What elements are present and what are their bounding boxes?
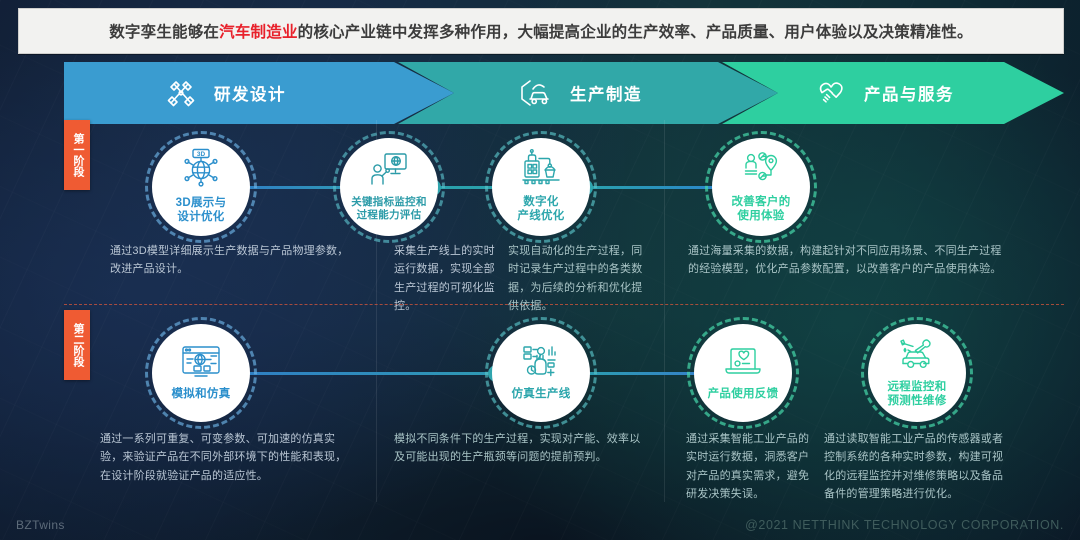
- desc-simulated-line: 模拟不同条件下的生产过程，实现对产能、效率以及可能出现的生产瓶颈等问题的提前预判…: [394, 430, 642, 467]
- desc-simulation: 通过一系列可重复、可变参数、可加速的仿真实验，来验证产品在不同外部环境下的性能和…: [100, 430, 352, 485]
- phase-arrow-rd[interactable]: 研发设计: [64, 62, 454, 124]
- desc-remote-monitoring: 通过读取智能工业产品的传感器或者控制系统的各种实时参数，构建可视化的远程监控并对…: [824, 430, 1004, 504]
- node-customer-experience[interactable]: 改善客户的使用体验: [712, 138, 810, 236]
- phase-arrow-manufacturing[interactable]: 生产制造: [398, 62, 778, 124]
- stage-tag-one-label: 第一阶段: [71, 133, 83, 177]
- node-ring: [333, 131, 445, 243]
- node-ring: [485, 317, 597, 429]
- headline-text: 数字孪生能够在汽车制造业的核心产业链中发挥多种作用，大幅提高企业的生产效率、产品…: [109, 20, 973, 42]
- headline-banner: 数字孪生能够在汽车制造业的核心产业链中发挥多种作用，大幅提高企业的生产效率、产品…: [18, 8, 1064, 54]
- node-ring: [145, 317, 257, 429]
- car-manufacturing-icon: [518, 77, 554, 109]
- drafting-compass-icon: [164, 76, 198, 110]
- node-ring: [485, 131, 597, 243]
- headline-prefix: 数字孪生能够在: [109, 24, 219, 41]
- node-simulation[interactable]: 模拟和仿真: [152, 324, 250, 422]
- desc-digital-line: 实现自动化的生产过程，同时记录生产过程中的各类数据，为后续的分析和优化提供依据。: [508, 242, 648, 316]
- node-kpi-monitoring[interactable]: 关键指标监控和过程能力评估: [340, 138, 438, 236]
- node-ring: [705, 131, 817, 243]
- stage-tag-two: 第二阶段: [64, 310, 90, 380]
- footer-copyright: @2021 NETTHINK TECHNOLOGY CORPORATION.: [745, 518, 1064, 532]
- stage-tag-two-label: 第二阶段: [71, 323, 83, 367]
- stage-tag-one: 第一阶段: [64, 120, 90, 190]
- node-3d-display[interactable]: 3D 3D展示与设计优化: [152, 138, 250, 236]
- headline-highlight: 汽车制造业: [219, 24, 298, 41]
- desc-kpi-monitoring: 采集生产线上的实时运行数据，实现全部生产过程的可视化监控。: [394, 242, 504, 316]
- desc-3d-display: 通过3D模型详细展示生产数据与产品物理参数，改进产品设计。: [110, 242, 352, 279]
- headline-suffix: 的核心产业链中发挥多种作用，大幅提高企业的生产效率、产品质量、用户体验以及决策精…: [298, 24, 973, 41]
- desc-customer-experience: 通过海量采集的数据，构建起针对不同应用场景、不同生产过程的经验模型，优化产品参数…: [688, 242, 1004, 279]
- desc-product-feedback: 通过采集智能工业产品的实时运行数据，洞悉客户对产品的真实需求，避免研发决策失误。: [686, 430, 810, 504]
- stage-board: 第一阶段 第二阶段 3D: [64, 120, 1064, 502]
- node-remote-monitoring[interactable]: 远程监控和预测性维修: [868, 324, 966, 422]
- phase-arrow-bar: 研发设计 生产制造: [64, 62, 1064, 124]
- handshake-heart-icon: [814, 77, 848, 109]
- node-ring: [687, 317, 799, 429]
- connector-r2-a: [240, 372, 496, 375]
- slide-canvas: 数字孪生能够在汽车制造业的核心产业链中发挥多种作用，大幅提高企业的生产效率、产品…: [0, 0, 1080, 540]
- phase-arrow-rd-label: 研发设计: [214, 81, 286, 105]
- phase-arrow-manufacturing-label: 生产制造: [570, 81, 642, 105]
- phase-arrow-product-service-label: 产品与服务: [864, 81, 954, 105]
- column-separator-2: [664, 120, 665, 502]
- footer-left-logo: BZTwins: [16, 518, 65, 532]
- node-ring: [145, 131, 257, 243]
- node-simulated-line[interactable]: 仿真生产线: [492, 324, 590, 422]
- node-ring: [861, 317, 973, 429]
- node-product-feedback[interactable]: 产品使用反馈: [694, 324, 792, 422]
- node-digital-line[interactable]: 数字化产线优化: [492, 138, 590, 236]
